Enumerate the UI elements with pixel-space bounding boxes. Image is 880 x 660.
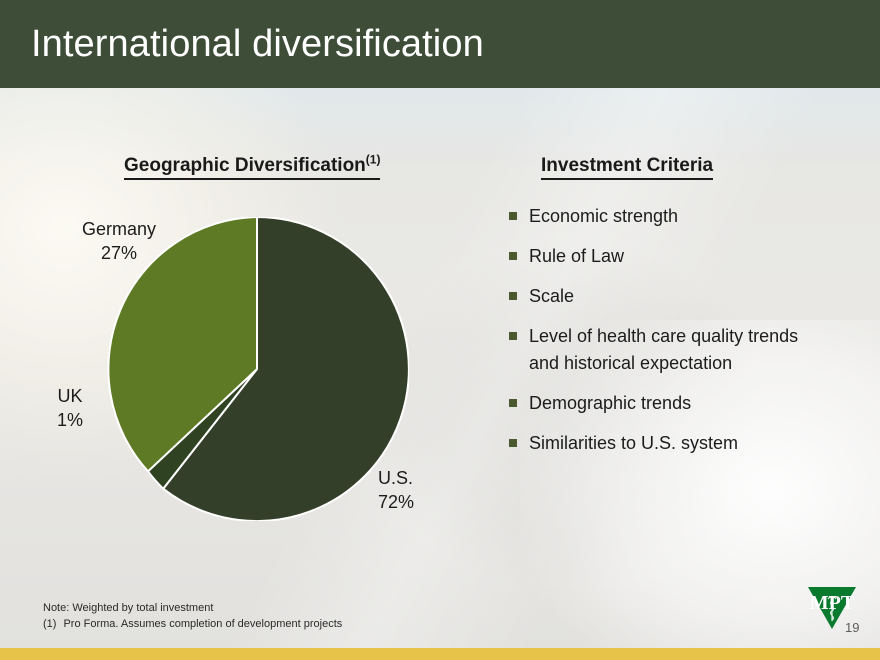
- criteria-item-label: Level of health care quality trends and …: [529, 323, 809, 377]
- bullet-square-icon: [509, 332, 517, 340]
- pie-label-uk-name: UK: [57, 386, 82, 406]
- bullet-square-icon: [509, 439, 517, 447]
- pie-label-germany-name: Germany: [82, 219, 156, 239]
- slide: International diversification Geographic…: [0, 0, 880, 660]
- investment-criteria-heading-text: Investment Criteria: [541, 155, 713, 180]
- footnote-marker: (1): [366, 153, 381, 167]
- bottom-accent-stripe: [0, 648, 880, 660]
- footnote-reference-text: Pro Forma. Assumes completion of develop…: [63, 618, 342, 630]
- pie-label-germany: Germany 27%: [71, 217, 167, 265]
- investment-criteria-heading: Investment Criteria: [541, 155, 713, 177]
- bullet-square-icon: [509, 212, 517, 220]
- footnote-reference-number: (1): [43, 618, 56, 630]
- list-item: Economic strength: [509, 203, 809, 230]
- list-item: Demographic trends: [509, 390, 809, 417]
- criteria-item-label: Similarities to U.S. system: [529, 430, 738, 457]
- page-number: 19: [845, 620, 859, 635]
- criteria-item-label: Demographic trends: [529, 390, 691, 417]
- criteria-item-label: Rule of Law: [529, 243, 624, 270]
- footnote-note: Note: Weighted by total investment: [43, 600, 342, 616]
- bullet-square-icon: [509, 399, 517, 407]
- list-item: Rule of Law: [509, 243, 809, 270]
- pie-label-us-name: U.S.: [378, 468, 413, 488]
- pie-label-uk-value: 1%: [47, 408, 93, 432]
- geographic-heading-text: Geographic Diversification: [124, 155, 366, 176]
- pie-label-us: U.S. 72%: [378, 466, 440, 514]
- list-item: Scale: [509, 283, 809, 310]
- pie-label-us-value: 72%: [378, 490, 440, 514]
- list-item: Similarities to U.S. system: [509, 430, 809, 457]
- pie-label-uk: UK 1%: [47, 384, 93, 432]
- bullet-square-icon: [509, 292, 517, 300]
- geographic-diversification-heading: Geographic Diversification(1): [124, 155, 380, 177]
- slide-title: International diversification: [31, 21, 484, 67]
- criteria-item-label: Scale: [529, 283, 574, 310]
- criteria-item-label: Economic strength: [529, 203, 678, 230]
- footnote-reference: (1)Pro Forma. Assumes completion of deve…: [43, 616, 342, 632]
- list-item: Level of health care quality trends and …: [509, 323, 809, 377]
- pie-label-germany-value: 27%: [71, 241, 167, 265]
- footnotes: Note: Weighted by total investment (1)Pr…: [43, 600, 342, 632]
- investment-criteria-list: Economic strength Rule of Law Scale Leve…: [509, 203, 809, 470]
- bullet-square-icon: [509, 252, 517, 260]
